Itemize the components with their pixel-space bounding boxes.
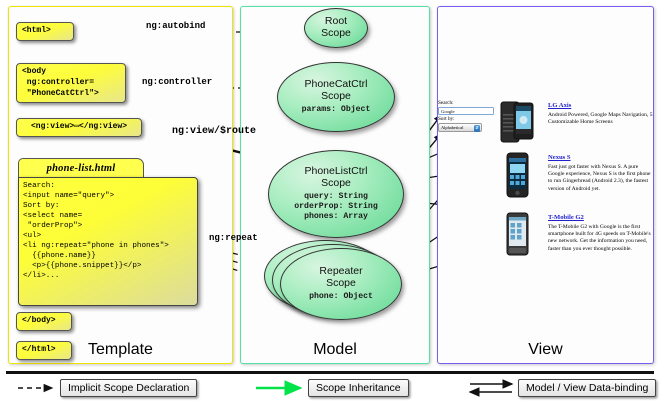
architecture-diagram: Template <html> <body ng:controller= "Ph… — [0, 0, 660, 405]
phone-name-link[interactable]: T-Mobile G2 — [548, 214, 656, 221]
scope-repeater-props: phone: Object — [309, 292, 373, 302]
legend-item-implicit: Implicit Scope Declaration — [60, 379, 197, 397]
phone-icon — [500, 100, 534, 146]
scope-phonecatctrl: PhoneCatCtrl Scope params: Object — [277, 62, 395, 132]
scope-repeater-title: Repeater Scope — [319, 266, 362, 290]
chevron-down-icon: ⇵ — [474, 125, 480, 132]
phone-text: LG Axis Android Powered, Google Maps Nav… — [548, 102, 656, 126]
scope-phonelistctrl-title: PhoneListCtrl Scope — [304, 166, 367, 190]
label-ng-controller: ng:controller — [142, 77, 212, 87]
sort-select[interactable]: Alphabetical ⇵ — [438, 123, 482, 132]
ng-view-tag: <ng:view>▭</ng:view> — [16, 118, 142, 137]
legend-label-implicit: Implicit Scope Declaration — [60, 379, 197, 397]
body-tag: <body ng:controller= "PhoneCatCtrl"> — [16, 63, 126, 103]
phone-description: Fast just got faster with Nexus S. A pur… — [548, 164, 656, 194]
phone-text: Nexus S Fast just got faster with Nexus … — [548, 154, 656, 193]
file-card-code: Search: <input name="query"> Sort by: <s… — [18, 177, 198, 306]
column-model-label: Model — [241, 341, 429, 359]
phone-icon — [500, 212, 534, 258]
search-label: Search: — [438, 100, 498, 107]
scope-phonecatctrl-title: PhoneCatCtrl Scope — [304, 79, 367, 103]
column-view-label: View — [438, 341, 653, 359]
file-card-filename: phone-list.html — [18, 158, 144, 178]
legend-divider — [6, 371, 654, 374]
sort-label: Sort by: — [438, 116, 498, 123]
label-ng-autobind: ng:autobind — [146, 21, 205, 31]
phone-list-file-card: phone-list.html Search: <input name="que… — [18, 158, 198, 306]
sort-select-value: Alphabetical — [441, 125, 463, 130]
scope-phonelistctrl: PhoneListCtrl Scope query: String orderP… — [268, 150, 404, 238]
scope-root-title: Root Scope — [321, 16, 351, 40]
legend-arrow-databinding — [470, 384, 512, 392]
phone-icon — [500, 152, 534, 198]
legend-item-databinding: Model / View Data-binding — [518, 379, 656, 397]
legend-item-inheritance: Scope Inheritance — [308, 379, 409, 397]
label-ng-repeat: ng:repeat — [209, 233, 258, 243]
scope-repeater: Repeater Scope phone: Object — [280, 248, 402, 320]
scope-phonecatctrl-props: params: Object — [302, 105, 371, 115]
phone-name-link[interactable]: LG Axis — [548, 102, 656, 109]
label-ng-view-route: ng:view/$route — [172, 126, 256, 137]
view-search-widget: Search: Google Sort by: Alphabetical ⇵ — [438, 100, 498, 132]
html-open-tag: <html> — [16, 22, 74, 41]
scope-root: Root Scope — [304, 8, 368, 48]
phone-description: The T-Mobile G2 with Google is the first… — [548, 224, 656, 254]
body-close-tag: </body> — [16, 312, 72, 331]
phone-name-link[interactable]: Nexus S — [548, 154, 656, 161]
search-input[interactable]: Google — [438, 107, 494, 115]
phone-description: Android Powered, Google Maps Navigation,… — [548, 112, 656, 127]
html-close-tag: </html> — [16, 341, 72, 360]
legend-label-inheritance: Scope Inheritance — [308, 379, 409, 397]
phone-text: T-Mobile G2 The T-Mobile G2 with Google … — [548, 214, 656, 253]
legend-label-databinding: Model / View Data-binding — [518, 379, 656, 397]
scope-phonelistctrl-props: query: String orderProp: String phones: … — [294, 192, 378, 222]
